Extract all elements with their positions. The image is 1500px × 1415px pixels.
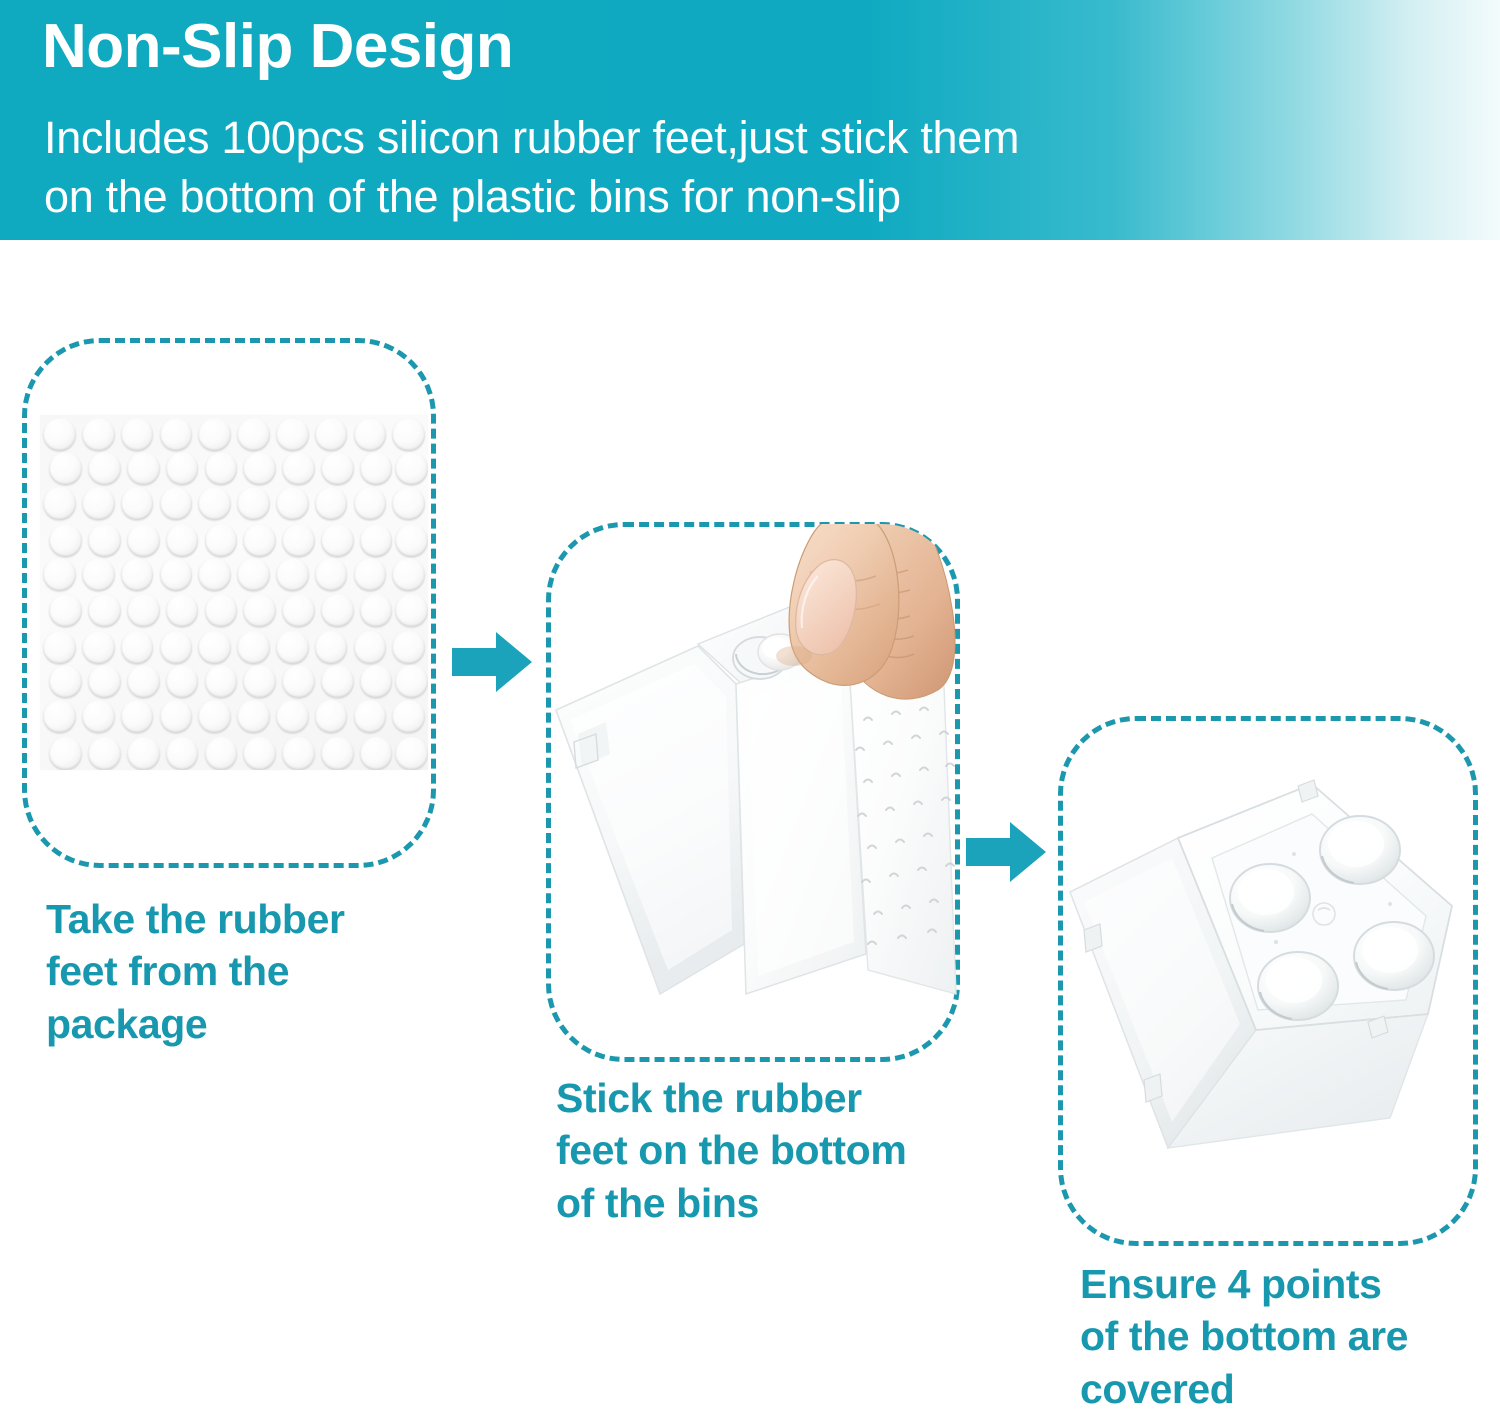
rubber-foot: [276, 631, 309, 664]
header-subtitle-line-2: on the bottom of the plastic bins for no…: [44, 167, 1019, 226]
rubber-foot: [360, 665, 393, 698]
rubber-foot: [282, 665, 315, 698]
rubber-foot: [282, 452, 315, 485]
rubber-foot: [392, 700, 425, 733]
rubber-foot: [127, 665, 160, 698]
page-title: Non-Slip Design: [42, 14, 513, 79]
rubber-foot: [82, 487, 115, 520]
rubber-foot: [321, 524, 354, 557]
rubber-foot: [43, 558, 76, 591]
rubber-foot: [198, 558, 231, 591]
step-3-caption-line-3: covered: [1080, 1363, 1500, 1415]
rubber-foot: [88, 665, 121, 698]
rubber-foot: [354, 418, 387, 451]
rubber-foot: [392, 418, 425, 451]
arrow-right-icon-1: [452, 630, 532, 694]
rubber-foot: [205, 524, 238, 557]
rubber-foot: [43, 631, 76, 664]
rubber-foot: [276, 418, 309, 451]
rubber-foot: [354, 631, 387, 664]
rubber-foot: [198, 631, 231, 664]
rubber-foot: [321, 737, 354, 770]
rubber-foot: [88, 594, 121, 627]
rubber-foot: [88, 737, 121, 770]
rubber-foot: [392, 558, 425, 591]
rubber-foot: [276, 558, 309, 591]
header-subtitle-line-1: Includes 100pcs silicon rubber feet,just…: [44, 108, 1019, 167]
rubber-foot: [198, 487, 231, 520]
rubber-foot: [205, 594, 238, 627]
rubber-foot: [395, 737, 428, 770]
rubber-foot: [49, 594, 82, 627]
rubber-foot: [282, 524, 315, 557]
rubber-foot: [237, 487, 270, 520]
rubber-foot: [237, 558, 270, 591]
rubber-foot: [127, 452, 160, 485]
rubber-foot: [237, 418, 270, 451]
rubber-foot: [121, 418, 154, 451]
rubber-foot: [160, 558, 193, 591]
rubber-foot: [82, 631, 115, 664]
rubber-foot: [315, 631, 348, 664]
rubber-foot: [321, 452, 354, 485]
rubber-foot: [49, 524, 82, 557]
rubber-foot: [360, 594, 393, 627]
rubber-foot: [321, 665, 354, 698]
rubber-foot: [166, 594, 199, 627]
rubber-foot: [276, 700, 309, 733]
rubber-foot: [166, 452, 199, 485]
rubber-foot: [160, 700, 193, 733]
rubber-foot: [395, 665, 428, 698]
rubber-foot: [282, 594, 315, 627]
rubber-foot: [321, 594, 354, 627]
header-subtitle: Includes 100pcs silicon rubber feet,just…: [44, 108, 1019, 227]
rubber-foot: [160, 487, 193, 520]
rubber-foot: [160, 418, 193, 451]
rubber-foot: [49, 665, 82, 698]
header-banner: Non-Slip Design Includes 100pcs silicon …: [0, 0, 1500, 240]
step-1-caption: Take the rubber feet from the package: [46, 893, 466, 1050]
rubber-foot: [243, 452, 276, 485]
rubber-foot: [360, 524, 393, 557]
rubber-foot: [121, 487, 154, 520]
step-2-caption-line-2: feet on the bottom: [556, 1124, 996, 1176]
rubber-foot: [82, 418, 115, 451]
rubber-foot: [82, 558, 115, 591]
rubber-foot: [205, 737, 238, 770]
bin-with-four-feet-image: [1060, 718, 1476, 1244]
rubber-foot: [395, 594, 428, 627]
rubber-foot: [243, 737, 276, 770]
rubber-foot: [315, 558, 348, 591]
step-1-caption-line-3: package: [46, 998, 466, 1050]
rubber-foot: [82, 700, 115, 733]
step-1-caption-line-2: feet from the: [46, 945, 466, 997]
rubber-foot: [43, 487, 76, 520]
step-3-caption: Ensure 4 points of the bottom are covere…: [1080, 1258, 1500, 1415]
step-3-caption-line-1: Ensure 4 points: [1080, 1258, 1500, 1310]
rubber-foot: [354, 700, 387, 733]
rubber-foot: [198, 700, 231, 733]
rubber-foot: [127, 737, 160, 770]
rubber-foot: [43, 418, 76, 451]
rubber-foot: [127, 524, 160, 557]
rubber-feet-grid: [40, 415, 428, 770]
rubber-foot: [243, 594, 276, 627]
step-3-caption-line-2: of the bottom are: [1080, 1310, 1500, 1362]
rubber-feet-sheet-image: [40, 415, 428, 770]
rubber-foot: [282, 737, 315, 770]
rubber-foot: [127, 594, 160, 627]
rubber-foot: [395, 524, 428, 557]
step-2-caption: Stick the rubber feet on the bottom of t…: [556, 1072, 996, 1229]
rubber-foot: [205, 665, 238, 698]
rubber-foot: [160, 631, 193, 664]
rubber-foot: [315, 487, 348, 520]
hand-sticking-foot-image: [548, 524, 958, 1060]
rubber-foot: [43, 700, 76, 733]
rubber-foot: [315, 700, 348, 733]
rubber-foot: [354, 558, 387, 591]
step-2-caption-line-1: Stick the rubber: [556, 1072, 996, 1124]
rubber-foot: [243, 524, 276, 557]
rubber-foot: [395, 452, 428, 485]
rubber-foot: [360, 452, 393, 485]
rubber-foot: [49, 737, 82, 770]
step-2-caption-line-3: of the bins: [556, 1177, 996, 1229]
rubber-foot: [360, 737, 393, 770]
rubber-foot: [88, 524, 121, 557]
rubber-foot: [166, 524, 199, 557]
rubber-foot: [198, 418, 231, 451]
rubber-foot: [392, 487, 425, 520]
rubber-foot: [276, 487, 309, 520]
rubber-foot: [392, 631, 425, 664]
rubber-foot: [121, 700, 154, 733]
rubber-foot: [121, 558, 154, 591]
rubber-foot: [315, 418, 348, 451]
rubber-foot: [354, 487, 387, 520]
rubber-foot: [166, 665, 199, 698]
rubber-foot: [88, 452, 121, 485]
rubber-foot: [166, 737, 199, 770]
arrow-right-icon-2: [966, 820, 1046, 884]
rubber-foot: [243, 665, 276, 698]
rubber-foot: [121, 631, 154, 664]
rubber-foot: [237, 700, 270, 733]
rubber-foot: [237, 631, 270, 664]
step-1-caption-line-1: Take the rubber: [46, 893, 466, 945]
rubber-foot: [205, 452, 238, 485]
rubber-foot: [49, 452, 82, 485]
